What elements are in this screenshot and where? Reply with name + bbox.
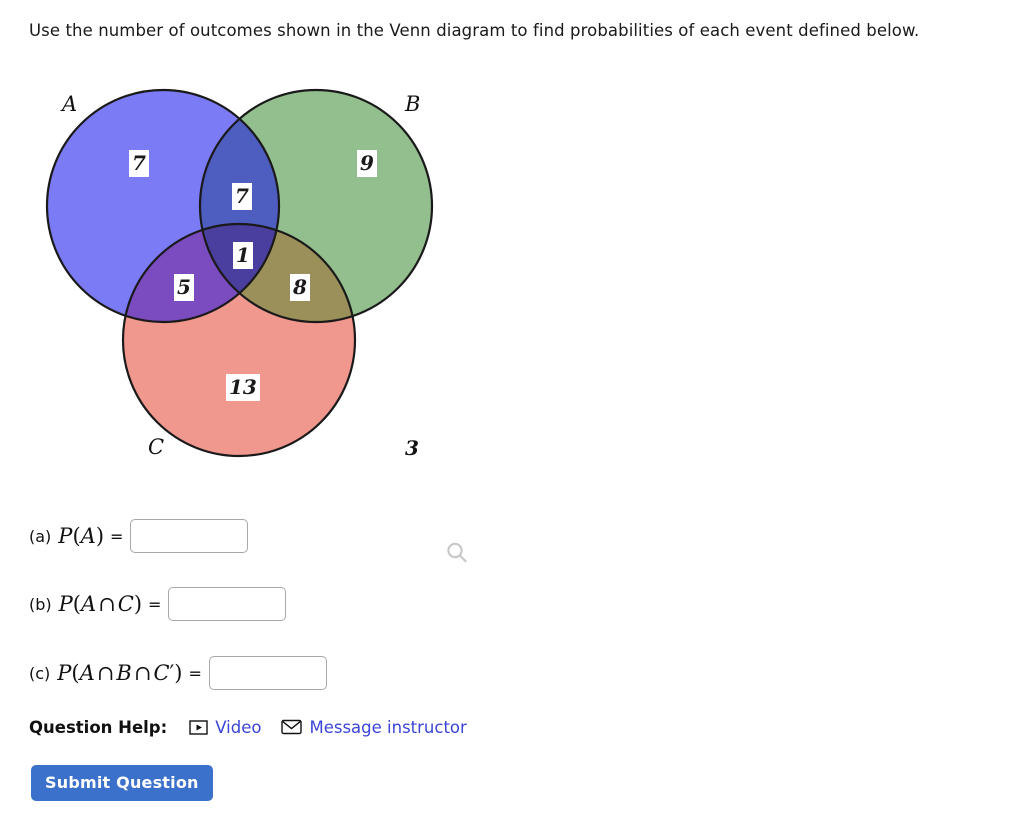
expression-a: P(A) [58, 524, 104, 548]
question-help-label: Question Help: [29, 718, 167, 737]
answer-row-c: (c) P(A∩B∩C′) = [29, 653, 327, 693]
part-label-b: (b) [29, 595, 52, 614]
message-instructor-label: Message instructor [309, 718, 466, 737]
venn-diagram-svg [20, 78, 490, 498]
answer-row-b: (b) P(A∩C) = [29, 584, 286, 624]
question-help-row: Question Help: Video Message instructor [29, 714, 487, 740]
submit-question-button[interactable]: Submit Question [31, 765, 213, 801]
search-icon[interactable] [444, 540, 470, 570]
expression-c: P(A∩B∩C′) [57, 661, 182, 685]
venn-count-a-and-c: 5 [174, 274, 194, 301]
part-label-a: (a) [29, 527, 51, 546]
answer-input-a[interactable] [130, 519, 248, 553]
venn-count-b-only: 9 [357, 150, 377, 177]
equals-sign-c: = [189, 664, 202, 683]
venn-count-a-and-b: 7 [232, 183, 252, 210]
video-help-label: Video [215, 718, 261, 737]
question-prompt: Use the number of outcomes shown in the … [29, 20, 919, 41]
video-play-icon [189, 720, 208, 735]
answer-input-c[interactable] [209, 656, 327, 690]
message-instructor-link[interactable]: Message instructor [281, 718, 466, 737]
envelope-icon [281, 719, 302, 735]
expression-b: P(A∩C) [59, 592, 142, 616]
venn-label-a: A [62, 92, 77, 116]
venn-diagram: A B C 7 9 7 1 5 8 13 3 [20, 78, 490, 498]
venn-count-c-only: 13 [226, 374, 260, 401]
equals-sign-a: = [110, 527, 123, 546]
venn-count-b-and-c: 8 [290, 274, 310, 301]
equals-sign-b: = [148, 595, 161, 614]
venn-count-a-b-c: 1 [233, 242, 253, 269]
part-label-c: (c) [29, 664, 50, 683]
video-help-link[interactable]: Video [189, 718, 261, 737]
venn-label-c: C [148, 435, 164, 459]
venn-label-b: B [405, 92, 420, 116]
answer-input-b[interactable] [168, 587, 286, 621]
venn-count-a-only: 7 [129, 150, 149, 177]
venn-count-outside: 3 [405, 436, 419, 460]
answer-row-a: (a) P(A) = [29, 516, 248, 556]
